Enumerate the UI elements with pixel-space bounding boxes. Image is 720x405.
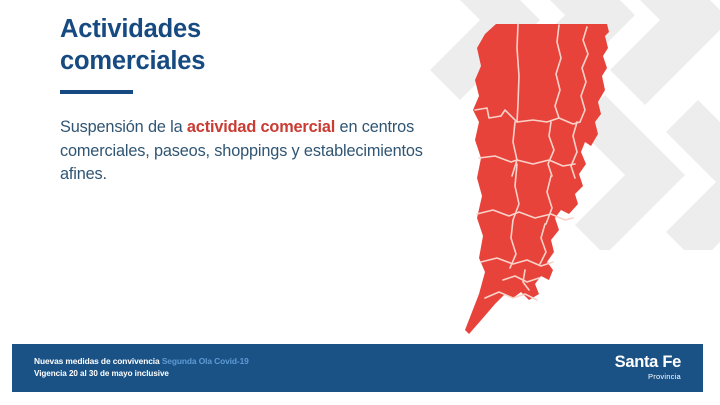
logo-secondary-text: Provincia [615, 372, 681, 382]
logo-primary-text: Santa Fe [615, 354, 681, 371]
slide-root: Actividades comerciales Suspensión de la… [0, 0, 720, 405]
footer-text-group: Nuevas medidas de convivencia Segunda Ol… [34, 356, 249, 379]
footer-headline: Nuevas medidas de convivencia Segunda Ol… [34, 356, 249, 368]
slide-body-text: Suspensión de la actividad comercial en … [60, 116, 450, 187]
santa-fe-province-map [455, 18, 645, 343]
footer-subtitle: Segunda Ola Covid-19 [162, 356, 249, 366]
footer-band: Nuevas medidas de convivencia Segunda Ol… [12, 344, 703, 392]
footer-title: Nuevas medidas de convivencia [34, 356, 160, 366]
slide-content: Actividades comerciales Suspensión de la… [60, 14, 450, 203]
title-line-2: comerciales [60, 47, 205, 75]
footer-validity: Vigencia 20 al 30 de mayo inclusive [34, 368, 249, 379]
body-highlight: actividad comercial [187, 118, 335, 136]
page-title: Actividades comerciales [60, 14, 450, 77]
title-underline-rule [60, 90, 133, 94]
title-line-1: Actividades [60, 15, 201, 43]
body-part-1: Suspensión de la [60, 118, 187, 136]
santa-fe-logo: Santa Fe Provincia [615, 354, 685, 382]
